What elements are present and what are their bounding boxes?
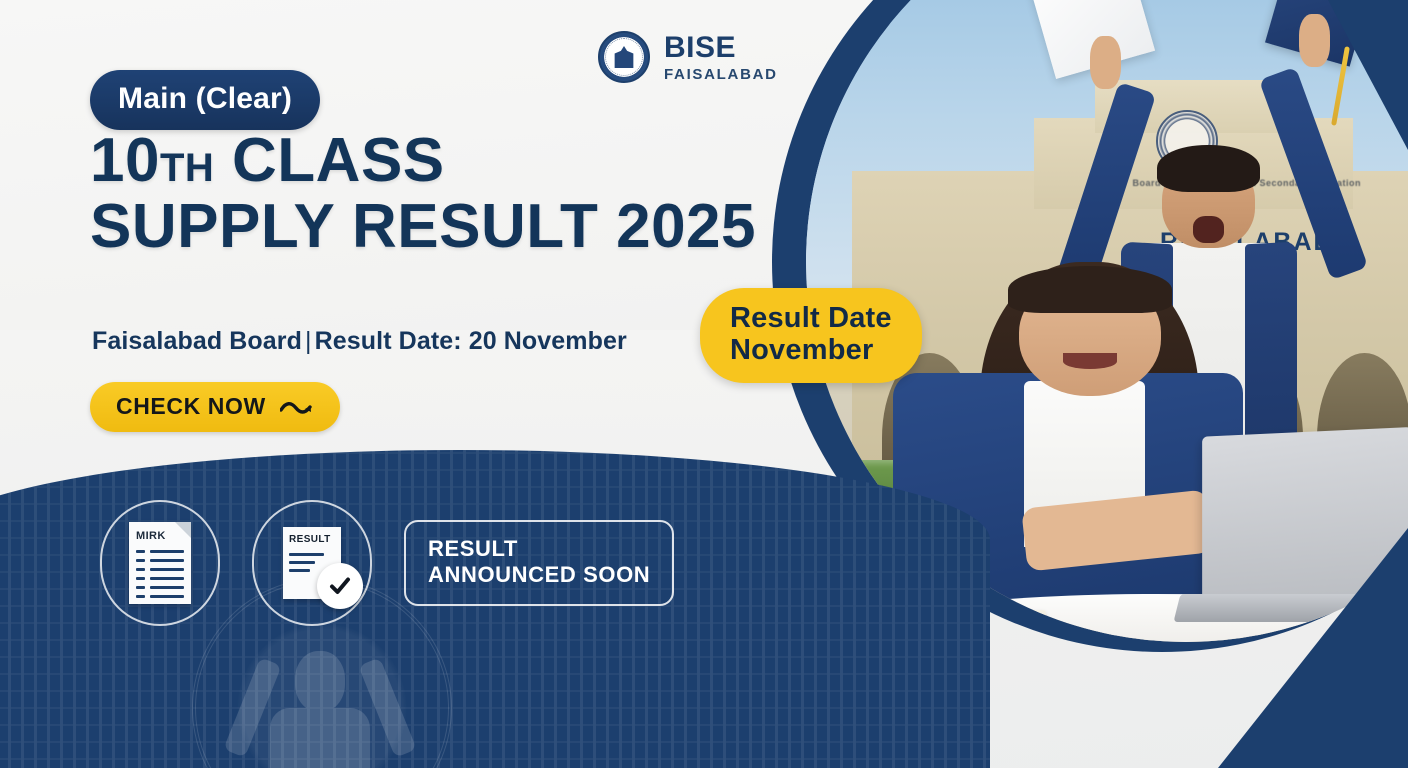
marks-sheet-badge[interactable]: MIRK bbox=[100, 500, 220, 626]
brand-name: BISE bbox=[664, 33, 778, 63]
brand-text: BISE FAISALABAD bbox=[664, 33, 778, 82]
result-verified-document-icon: RESULT bbox=[283, 527, 341, 599]
board-name: Faisalabad Board bbox=[92, 327, 302, 355]
hair bbox=[1157, 145, 1260, 193]
headline-ordinal: TH bbox=[160, 146, 214, 190]
separator: | bbox=[302, 327, 315, 355]
announcement-line-2: ANNOUNCED SOON bbox=[428, 562, 650, 588]
exam-type-tag: Main (Clear) bbox=[90, 70, 320, 130]
check-now-label: CHECK NOW bbox=[116, 393, 266, 420]
announcement-box: RESULT ANNOUNCED SOON bbox=[404, 520, 674, 607]
mouth bbox=[1193, 216, 1224, 243]
brand-logo[interactable]: BISE FAISALABAD bbox=[598, 31, 778, 83]
result-date-badge: Result Date November bbox=[700, 288, 922, 383]
hair-top bbox=[1008, 266, 1172, 313]
left-hand bbox=[1090, 36, 1121, 89]
check-now-button[interactable]: CHECK NOW bbox=[90, 382, 340, 432]
result-banner: Board of Intermediate and Secondary Educ… bbox=[0, 0, 1408, 768]
result-date: Result Date: 20 November bbox=[315, 327, 627, 355]
board-and-date: Faisalabad Board|Result Date: 20 Novembe… bbox=[92, 327, 627, 356]
date-badge-line-2: November bbox=[730, 334, 892, 366]
announcement-line-1: RESULT bbox=[428, 536, 650, 562]
marks-sheet-document-icon: MIRK bbox=[129, 522, 191, 604]
headline-number: 10 bbox=[90, 126, 160, 195]
headline-line-2: SUPPLY RESULT 2025 bbox=[90, 194, 756, 260]
brand-subtitle: FAISALABAD bbox=[664, 67, 778, 82]
right-hand bbox=[1299, 14, 1330, 67]
headline-class: CLASS bbox=[214, 126, 444, 195]
doc-title: RESULT bbox=[289, 534, 331, 545]
smile bbox=[1063, 353, 1118, 369]
checkmark-icon bbox=[317, 563, 363, 609]
feature-badges: MIRK RESULT bbox=[100, 500, 674, 626]
date-badge-line-1: Result Date bbox=[730, 302, 892, 334]
doc-lines bbox=[136, 550, 184, 598]
celebration-watermark bbox=[230, 628, 410, 768]
result-verified-badge[interactable]: RESULT bbox=[252, 500, 372, 626]
doc-lines bbox=[289, 553, 324, 572]
swoosh-arrow-icon bbox=[280, 398, 314, 416]
doc-title: MIRK bbox=[136, 530, 166, 542]
page-title: 10TH CLASS SUPPLY RESULT 2025 bbox=[90, 128, 756, 259]
headline-line-1: 10TH CLASS bbox=[90, 128, 756, 194]
bise-seal-icon bbox=[598, 31, 650, 83]
